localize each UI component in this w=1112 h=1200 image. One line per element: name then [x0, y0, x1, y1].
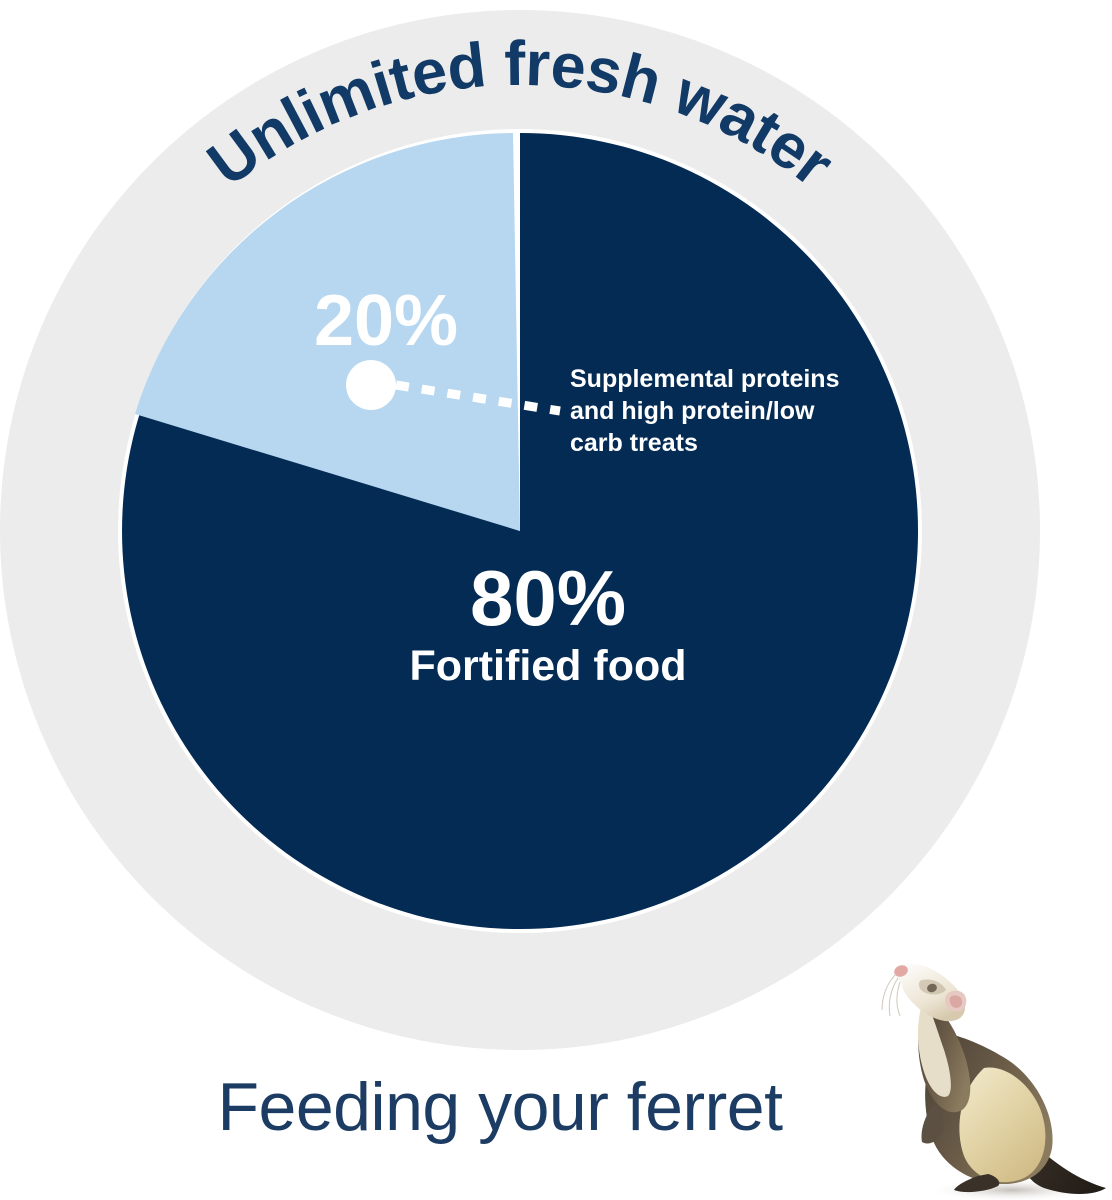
- slice-label-20-percent: 20%: [314, 281, 458, 361]
- callout-text-line-2: and high protein/low: [570, 397, 815, 425]
- callout-text-line-3: carb treats: [570, 429, 698, 457]
- feeding-your-ferret-infographic: Unlimited fresh water 20% Supplemental p…: [0, 0, 1112, 1200]
- ferret-whiskers: [882, 974, 900, 1016]
- slice-label-fortified-food: Fortified food: [409, 642, 686, 690]
- callout-dot-marker: [346, 360, 396, 410]
- callout-text-line-1: Supplemental proteins: [570, 365, 839, 393]
- slice-label-80-percent: 80%: [470, 554, 626, 642]
- page-title: Feeding your ferret: [0, 1073, 1000, 1141]
